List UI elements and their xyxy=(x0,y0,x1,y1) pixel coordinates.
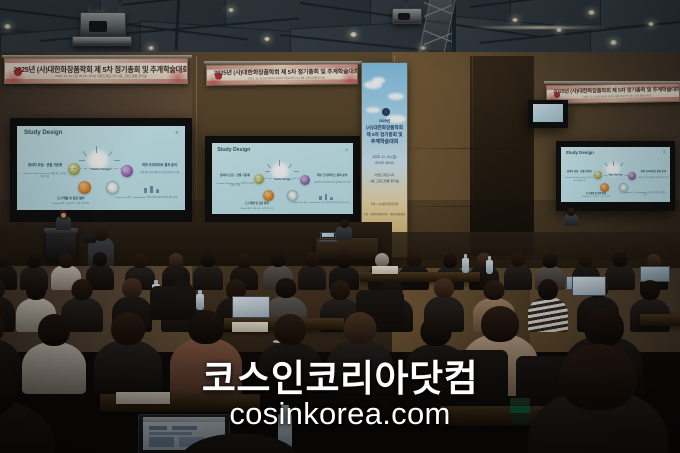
slide-bottom-left-caption-right: Protocol 검토 · IRB 승인 · 시험 기간 산정 xyxy=(577,197,616,199)
slide-glyph-a-left xyxy=(144,188,147,193)
slide-right-block-left: 피부 프리미티브 결과 분석 xyxy=(138,163,182,167)
moderator-laptop xyxy=(320,232,336,242)
paper-handout xyxy=(372,266,398,274)
x-banner-venue-2: 3층 그랜드볼룸 한라홀 xyxy=(362,179,407,183)
x-banner-title-3: 추계학술대회 xyxy=(362,139,407,145)
watermark-korean: 코스인코리아닷컴 xyxy=(0,360,680,397)
slide-left-block-left: 참여자 모집 · 선별 기준에 xyxy=(24,163,66,167)
slide-right-caption-left: 측정 장비 기반 정량 분석 및 통계 처리 수행 xyxy=(136,172,183,175)
slide-node-orange-left xyxy=(78,181,91,194)
slide-bottom-right-caption-right: Sample size 산출 · randomization 적용 피험자 배정… xyxy=(623,193,666,197)
x-banner-footer-2: 후원 : 식품의약품안전처 · 대한화장품협회 xyxy=(362,213,407,216)
slide-left-caption-left: Inclusion / Exclusion criteria 설정 및 스크리닝… xyxy=(22,173,67,179)
slide-glyph-b-center xyxy=(325,194,328,200)
slide-right-block-center: 피부 프리미티브 결과 분석 xyxy=(314,174,351,177)
slide-node-purple-right xyxy=(628,172,636,180)
hall-banner-center: 2025년 (사)대한화장품학회 제 5차 정기총회 및 추계학술대회 2025… xyxy=(206,63,358,86)
slide-bottom-right-caption-center: Sample size 산출 · randomization 적용 피험자 배정… xyxy=(292,202,349,204)
slide-title-right: Study Design xyxy=(566,150,594,155)
slide-node-white-right xyxy=(619,183,628,192)
slide-right: Study Design 8 Study Design 참여자 모집 · 선별 … xyxy=(561,147,669,202)
slide-node-orange-right xyxy=(600,183,609,192)
slide-right-caption-center: 측정 장비 기반 정량 분석 및 통계 처리 수행 xyxy=(312,182,352,185)
slide-bottom-left-label-right: 도구개발 및 검증 절차 xyxy=(581,193,611,196)
slide-node-white-left xyxy=(106,181,119,194)
x-banner-date: 2025. 11. 21.(금) xyxy=(362,155,407,159)
photographer-head xyxy=(94,228,108,241)
banner-subtitle-left: 2025. 11. 21.(금) 09:00~18:00 서울드래곤시티 3층 … xyxy=(55,75,147,78)
slide-page-number-right: 8 xyxy=(663,150,665,154)
slide-glyph-c-left xyxy=(156,189,159,193)
slide-left-block-right: 참여자 모집 · 선별 기준에 xyxy=(566,171,593,174)
slide-right-block-right: 피부 프리미티브 결과 분석 xyxy=(639,171,667,174)
slide-bottom-left-label-center: 도구개발 및 검증 절차 xyxy=(237,202,277,205)
x-banner-year: 2025년 xyxy=(362,119,407,123)
water-bottle xyxy=(196,294,204,310)
slide-center: Study Design 8 Study Design 참여자 모집 · 선별 … xyxy=(212,143,354,214)
confidence-monitor xyxy=(528,100,568,128)
attendee-laptop xyxy=(572,276,606,296)
slide-node-purple-center xyxy=(300,175,310,185)
slide-title-left: Study Design xyxy=(24,130,62,136)
slide-title-center: Study Design xyxy=(217,147,250,153)
slide-glyph-b-left xyxy=(150,186,153,193)
x-banner-emblem-icon xyxy=(382,108,390,116)
water-bottle xyxy=(462,258,469,273)
slide-bottom-left-label-left: 도구개발 및 검증 절차 xyxy=(47,197,94,201)
water-bottle xyxy=(486,260,493,274)
slide-bottom-left-caption-center: Protocol 검토 · IRB 승인 · 시험 기간 산정 xyxy=(231,208,282,210)
x-banner-title-1: (사)대한화장품학회 xyxy=(362,125,407,131)
slide-bottom-left-caption-left: Protocol 검토 · IRB 승인 · 시험 기간 산정 xyxy=(41,203,101,206)
x-banner-footer-1: 주최 : (사)대한화장품학회 xyxy=(362,203,407,207)
slide-page-number-left: 8 xyxy=(175,130,178,135)
conference-hall-photo: 2025년 (사)대한화장품학회 제 5차 정기총회 및 추계학술대회 2025… xyxy=(0,0,680,453)
slide-left-block-center: 참여자 모집 · 선별 기준에 xyxy=(217,174,252,177)
hall-banner-left: 2025년 (사)대한화장품학회 제 5차 정기총회 및 추계학술대회 2025… xyxy=(4,58,188,84)
slide-left: Study Design 8 Study Design 참여자 모집 · 선별 … xyxy=(17,126,184,210)
slide-glyph-a-center xyxy=(319,196,322,200)
x-banner-title-2: 제 5차 정기총회 및 xyxy=(362,132,407,138)
x-banner-venue-1: 서울드래곤시티 xyxy=(362,173,407,177)
banner-title-center: 2025년 (사)대한화장품학회 제 5차 정기총회 및 추계학술대회 xyxy=(214,69,358,77)
moderator-head xyxy=(340,219,349,228)
slide-node-white-center xyxy=(287,190,298,201)
slide-node-purple-left xyxy=(121,165,133,177)
projection-screen-left: Study Design 8 Study Design 참여자 모집 · 선별 … xyxy=(10,118,192,222)
slide-bottom-right-caption-left: Sample size 산출 · randomization 적용 피험자 배정… xyxy=(113,197,180,200)
slide-page-number-center: 8 xyxy=(346,147,348,152)
projection-screen-center: Study Design 8 Study Design 참여자 모집 · 선별 … xyxy=(205,136,360,224)
slide-right-caption-right: 측정 장비 기반 정량 분석 및 통계 처리 수행 xyxy=(638,177,668,179)
x-banner-time: 09:00~18:00 xyxy=(362,161,407,165)
watermark-latin: cosinkorea.com xyxy=(0,398,680,429)
slide-node-orange-center xyxy=(263,190,274,201)
banner-title-left: 2025년 (사)대한화장품학회 제 5차 정기총회 및 추계학술대회 xyxy=(13,66,188,73)
moderator-body xyxy=(336,226,352,240)
projection-screen-right: Study Design 8 Study Design 참여자 모집 · 선별 … xyxy=(556,141,675,211)
slide-glyph-c-center xyxy=(330,197,333,200)
slide-left-caption-center: Inclusion / Exclusion criteria 설정 및 스크리닝… xyxy=(216,183,254,188)
camera-icon xyxy=(84,234,96,243)
slide-left-caption-right: Inclusion / Exclusion criteria 설정 및 스크리닝… xyxy=(565,177,594,181)
right-presenter-head xyxy=(567,208,575,216)
